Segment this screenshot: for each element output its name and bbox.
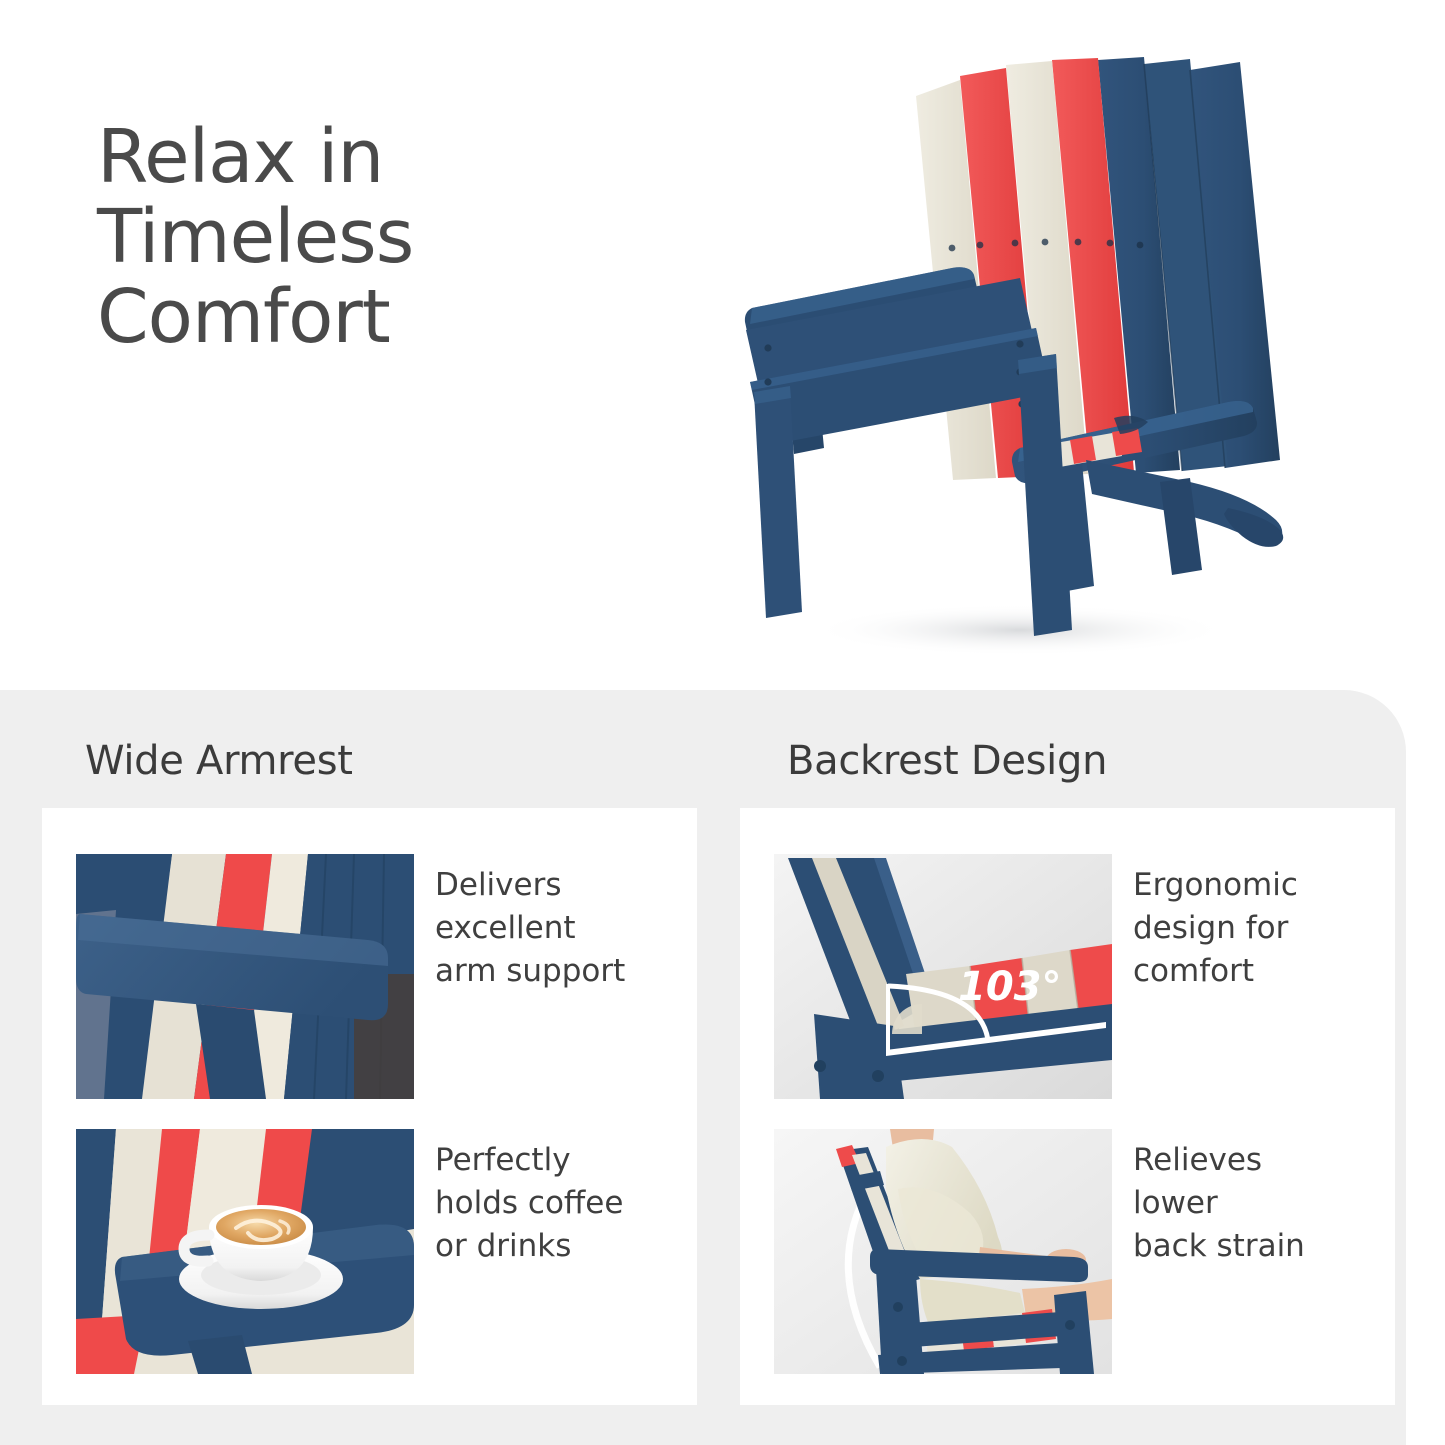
hero-section: Relax in Timeless Comfort: [0, 0, 1445, 700]
feature-row: Delivers excellent arm support: [42, 832, 697, 1107]
feature-caption: Perfectly holds coffee or drinks: [435, 1139, 685, 1267]
armrest-closeup-photo: [76, 854, 414, 1099]
page-title: Relax in Timeless Comfort: [97, 118, 567, 358]
angle-label: 103°: [958, 964, 1062, 1010]
feature-caption: Relieves lower back strain: [1133, 1139, 1383, 1267]
feature-column-title-wide-armrest: Wide Armrest: [85, 738, 353, 784]
coffee-cup-on-armrest-photo: [76, 1129, 414, 1374]
feature-caption: Ergonomic design for comfort: [1133, 864, 1383, 992]
person-seated-in-chair-photo: [774, 1129, 1112, 1374]
feature-row: Relieves lower back strain: [740, 1107, 1395, 1382]
backrest-angle-diagram: 103°: [774, 854, 1112, 1099]
feature-card-backrest-design: 103° Ergonomic design for comfort: [740, 808, 1395, 1405]
feature-caption: Delivers excellent arm support: [435, 864, 685, 992]
feature-row: Perfectly holds coffee or drinks: [42, 1107, 697, 1382]
feature-card-wide-armrest: Delivers excellent arm support: [42, 808, 697, 1405]
feature-row: 103° Ergonomic design for comfort: [740, 832, 1395, 1107]
feature-column-title-backrest-design: Backrest Design: [787, 738, 1107, 784]
hero-product-image: [720, 30, 1320, 670]
